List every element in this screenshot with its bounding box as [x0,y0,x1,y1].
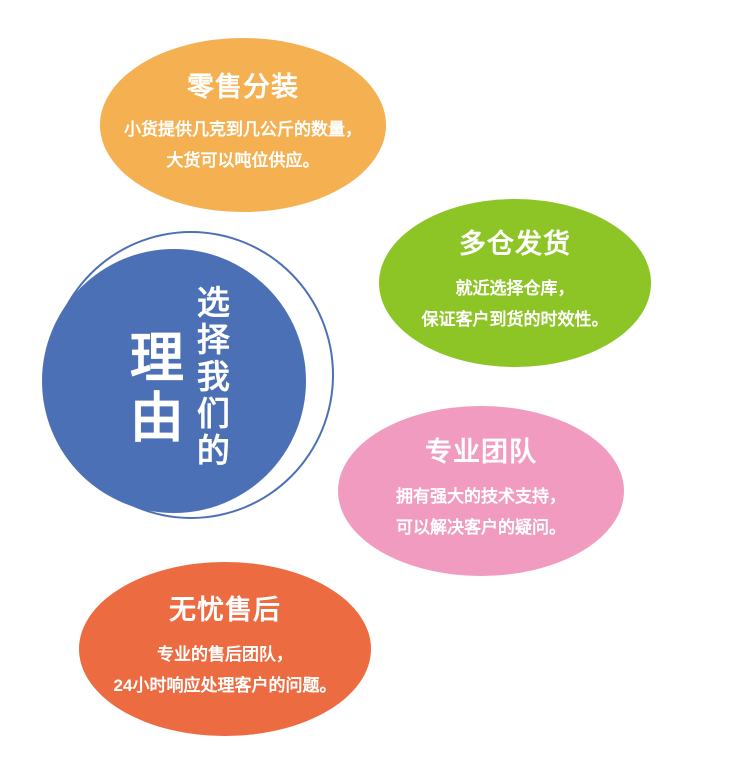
bubble-body-professional-team: 拥有强大的技术支持， 可以解决客户的疑问。 [396,481,566,544]
bubble-body-line-2: 大货可以吨位供应。 [124,145,362,176]
bubble-title-multi-warehouse-shipping: 多仓发货 [459,230,571,260]
bubble-body-retail-packaging: 小货提供几克到几公斤的数量， 大货可以吨位供应。 [124,114,362,177]
bubble-body-multi-warehouse-shipping: 就近选择仓库， 保证客户到货的时效性。 [422,273,609,336]
bubble-title-worry-free-after-sales: 无忧售后 [169,596,281,626]
bubble-multi-warehouse-shipping: 多仓发货 就近选择仓库， 保证客户到货的时效性。 [379,199,651,367]
bubble-body-line-1: 专业的售后团队， [114,639,337,670]
bubble-body-worry-free-after-sales: 专业的售后团队， 24小时响应处理客户的问题。 [114,639,337,702]
bubble-professional-team: 专业团队 拥有强大的技术支持， 可以解决客户的疑问。 [338,406,624,576]
center-main-text: 理由 [119,329,183,449]
bubble-worry-free-after-sales: 无忧售后 专业的售后团队， 24小时响应处理客户的问题。 [79,562,371,736]
bubble-title-retail-packaging: 零售分装 [187,73,299,103]
bubble-body-line-2: 可以解决客户的疑问。 [396,512,566,543]
center-text-group: 选择我们的 理由 [42,249,306,513]
bubble-body-line-2: 24小时响应处理客户的问题。 [114,670,337,701]
bubble-retail-packaging: 零售分装 小货提供几克到几公斤的数量， 大货可以吨位供应。 [100,38,386,212]
bubble-body-line-1: 就近选择仓库， [422,273,609,304]
center-emblem: 选择我们的 理由 [36,228,338,533]
reasons-to-choose-us-infographic: 零售分装 小货提供几克到几公斤的数量， 大货可以吨位供应。 多仓发货 就近选择仓… [0,0,750,773]
center-lead-text: 选择我们的 [190,285,229,470]
bubble-body-line-2: 保证客户到货的时效性。 [422,304,609,335]
bubble-body-line-1: 拥有强大的技术支持， [396,481,566,512]
bubble-title-professional-team: 专业团队 [425,438,537,468]
bubble-body-line-1: 小货提供几克到几公斤的数量， [124,114,362,145]
